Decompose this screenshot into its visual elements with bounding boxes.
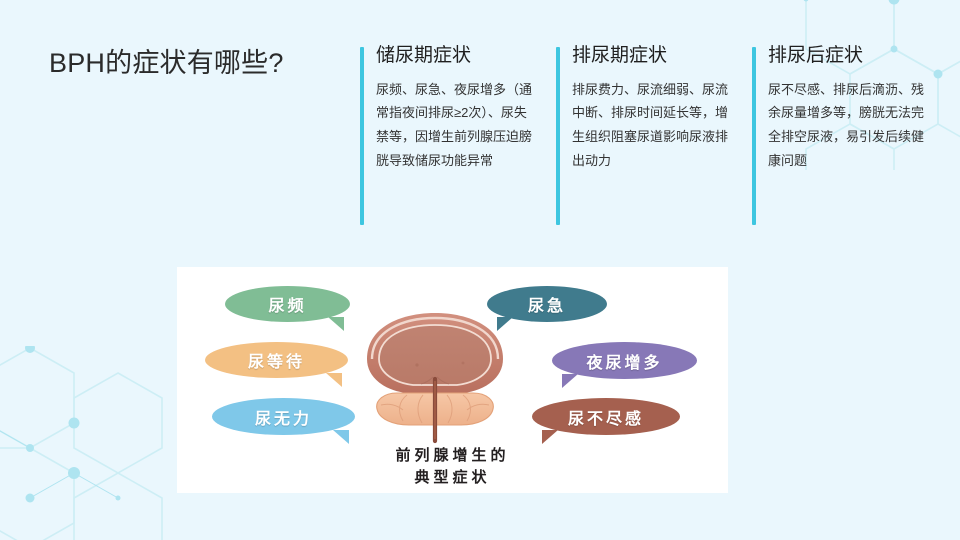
- bubble-tail-icon: [328, 317, 344, 331]
- symptom-bubble-frequency: 尿频: [225, 286, 350, 322]
- bubble-tail-icon: [497, 317, 513, 331]
- illustration-caption: 前列腺增生的 典型症状: [177, 445, 728, 489]
- symptom-bubble-nocturia: 夜尿增多: [552, 342, 697, 379]
- column-body: 尿不尽感、排尿后滴沥、残余尿量增多等，膀胱无法完全排空尿液，易引发后续健康问题: [768, 78, 928, 173]
- symptom-column-post-voiding: 排尿后症状 尿不尽感、排尿后滴沥、残余尿量增多等，膀胱无法完全排空尿液，易引发后…: [752, 45, 928, 172]
- bubble-label: 尿频: [268, 292, 306, 316]
- bubble-label: 尿不尽感: [568, 405, 644, 429]
- symptom-column-voiding: 排尿期症状 排尿费力、尿流细弱、尿流中断、排尿时间延长等，增生组织阻塞尿道影响尿…: [556, 45, 732, 172]
- bubble-label: 夜尿增多: [586, 349, 662, 373]
- column-heading: 储尿期症状: [376, 45, 536, 68]
- slide-canvas: BPH的症状有哪些? 储尿期症状 尿频、尿急、夜尿增多（通常指夜间排尿≥2次）、…: [0, 0, 960, 540]
- symptom-bubble-weak-stream: 尿无力: [212, 398, 355, 435]
- bubble-label: 尿等待: [248, 348, 305, 372]
- illustration-inner: 尿频 尿等待 尿无力 尿急 夜尿增多 尿不尽感: [177, 267, 728, 493]
- symptom-bubble-urgency: 尿急: [487, 286, 607, 322]
- column-body: 排尿费力、尿流细弱、尿流中断、排尿时间延长等，增生组织阻塞尿道影响尿液排出动力: [572, 78, 732, 173]
- bubble-label: 尿无力: [255, 405, 312, 429]
- bubble-tail-icon: [562, 374, 578, 388]
- column-heading: 排尿后症状: [768, 45, 928, 68]
- hexagon-pattern-secondary-icon: [0, 346, 190, 540]
- column-body: 尿频、尿急、夜尿增多（通常指夜间排尿≥2次）、尿失禁等，因增生前列腺压迫膀胱导致…: [376, 78, 536, 173]
- bubble-tail-icon: [326, 373, 342, 387]
- column-heading: 排尿期症状: [572, 45, 732, 68]
- symptom-column-storage: 储尿期症状 尿频、尿急、夜尿增多（通常指夜间排尿≥2次）、尿失禁等，因增生前列腺…: [360, 45, 536, 172]
- symptom-bubble-incomplete-emptying: 尿不尽感: [532, 398, 680, 435]
- bubble-tail-icon: [333, 430, 349, 444]
- caption-line-1: 前列腺增生的: [177, 445, 728, 467]
- page-title: BPH的症状有哪些?: [49, 44, 349, 83]
- caption-line-2: 典型症状: [177, 467, 728, 489]
- bubble-label: 尿急: [528, 292, 566, 316]
- bubble-tail-icon: [542, 430, 558, 444]
- illustration-panel: 尿频 尿等待 尿无力 尿急 夜尿增多 尿不尽感: [177, 267, 728, 493]
- symptom-bubble-hesitancy: 尿等待: [205, 342, 348, 378]
